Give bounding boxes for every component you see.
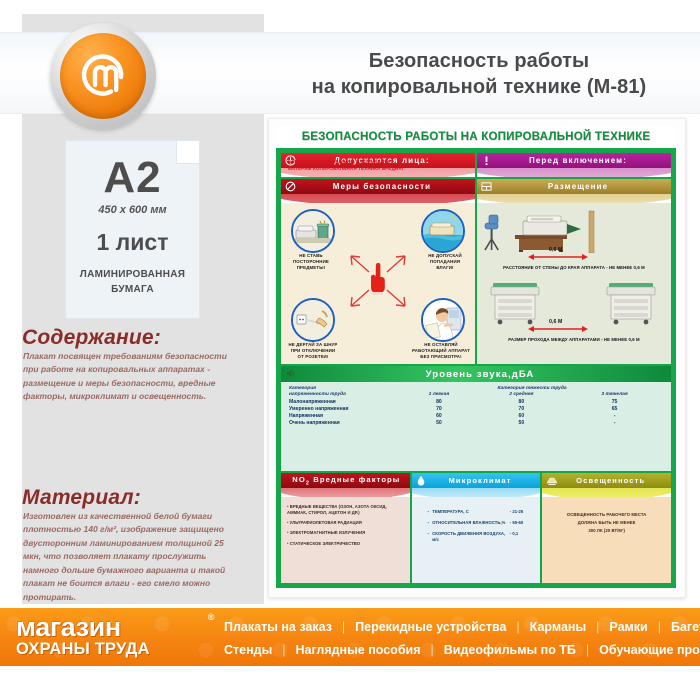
noise-row-0-v2: 75 [566,398,663,405]
harmful-prefix: NO [292,475,306,484]
section-harmful-panel: • ВРЕДНЫЕ ВЕЩЕСТВА (ОЗОН, АЗОТА ОКСИД, А… [281,497,410,583]
placement-dim1-value: 0,6 М [549,247,562,253]
placement-dim2-value: 0,6 М [549,319,562,325]
sheet-material-line2: БУМАГА [72,283,193,298]
footer-links-row-1: Плакаты на заказ | Перекидные устройства… [214,620,692,634]
section-harmful-label: NO2 Вредные факторы [281,475,410,487]
site-footer: магазин® ОХРАНЫ ТРУДА Плакаты на заказ |… [0,608,700,666]
section-microclimate-caption: Микроклимат [412,473,541,488]
poster-row-4: NO2 Вредные факторы • ВРЕДНЫЕ ВЕЩЕСТВА (… [281,473,671,583]
pictogram-no-pull-cord [291,298,335,342]
logo-m-glyph [73,46,133,106]
speaker-icon [284,367,297,380]
section-harmful: NO2 Вредные факторы • ВРЕДНЫЕ ВЕЩЕСТВА (… [281,473,410,583]
footer-link-pockets[interactable]: Карманы [520,620,596,634]
section-harmful-caption: NO2 Вредные факторы [281,473,410,488]
page-title-line1: Безопасность работы [369,48,589,74]
sheet-count: 1 лист [66,229,199,256]
lamp-icon [545,474,558,487]
section-safety-label: Меры безопасности [281,182,475,191]
pictogram-label-no-moisture: НЕ ДОПУСКАЙ ПОПАДАНИЯ ВЛАГИ! [418,253,472,271]
safety-arc [281,194,475,203]
microclimate-arc [412,488,541,497]
section-safety: Меры безопасности [281,179,475,364]
footer-brand-line1: магазин® [16,615,211,641]
noise-row-2-v2: - [566,412,663,419]
copier-left-graphic [485,277,547,329]
section-before-power: Перед включением: - проветри помещение -… [477,153,671,177]
microclimate-item-1: ▪ ОТНОСИТЕЛЬНАЯ ВЛАЖНОСТЬ,% - 55-60 [428,520,536,526]
poster-row-2: Меры безопасности [281,179,671,364]
harmful-title: Вредные факторы [313,475,400,484]
lighting-line2: ДОЛЖНА БЫТЬ НЕ МЕНЕЕ [546,519,667,527]
noise-row-1-v0: 70 [401,405,477,412]
dimension-arrow-1 [527,253,589,261]
page-title-line2: на копировальной технике (М-81) [312,74,647,100]
page-title: Безопасность работы на копировальной тех… [270,40,688,108]
microclimate-item-0: ▪ ТЕМПЕРАТУРА, С - 21-25 [428,509,536,515]
before-power-arc [477,168,671,177]
format-label: A2 [66,153,199,203]
format-sheet-card: A2 450 x 600 мм 1 лист ЛАМИНИРОВАННАЯ БУ… [65,140,200,319]
noise-row-2-label: Напряженная [289,412,401,419]
section-placement-panel: 0,6 М РАССТОЯНИЕ ОТ СТЕНЫ ДО КРАЯ АППАРА… [477,203,671,364]
section-lighting-panel: ОСВЕЩЕННОСТЬ РАБОЧЕГО МЕСТА ДОЛЖНА БЫТЬ … [542,497,671,583]
microclimate-list: ▪ ТЕМПЕРАТУРА, С - 21-25 ▪ ОТНОСИТЕЛЬНАЯ… [428,509,536,543]
pictogram-label-no-pull-cord: НЕ ДЕРГАЙ ЗА ШНУР ПРИ ОТКЛЮЧЕНИИ ОТ РОЗЕ… [282,342,344,360]
placement-dim1-caption: РАССТОЯНИЕ ОТ СТЕНЫ ДО КРАЯ АППАРАТА - Н… [477,265,671,270]
footer-brand[interactable]: магазин® ОХРАНЫ ТРУДА [16,613,211,661]
section-microclimate-label: Микроклимат [412,476,541,485]
table-row: Очень напряженная 50 50 - [289,420,663,427]
noise-row-0-label: Малонапряженная [289,398,401,405]
harmful-sub: 2 [306,480,310,486]
footer-links: Плакаты на заказ | Перекидные устройства… [214,615,692,661]
noise-row-2-v0: 60 [401,412,477,419]
noise-row-1-v2: 65 [566,405,663,412]
material-description: Изготовлен из качественной белой бумаги … [23,510,235,604]
footer-link-custom-posters[interactable]: Плакаты на заказ [214,620,342,634]
section-placement: Размещение [477,179,671,364]
noise-row-1-label: Умеренно напряженная [289,405,401,412]
section-before-power-label: Перед включением: [477,156,671,165]
noise-row-0-v1: 80 [477,398,566,405]
footer-link-frames[interactable]: Рамки [599,620,657,634]
poster-body: Допускаются лица: [276,148,676,588]
section-before-power-caption: Перед включением: [477,153,671,168]
lighting-arc [542,488,671,497]
footer-link-visual-aids[interactable]: Наглядные пособия [286,643,431,657]
section-safety-caption: Меры безопасности [281,179,475,194]
poster-title: БЕЗОПАСНОСТЬ РАБОТЫ НА КОПИРОВАЛЬНОЙ ТЕХ… [276,126,676,148]
harmful-item-0: • ВРЕДНЫЕ ВЕЩЕСТВА (ОЗОН, АЗОТА ОКСИД, А… [287,504,405,516]
table-row: Умеренно напряженная 70 70 65 [289,405,663,412]
harmful-arc [281,488,410,497]
section-lighting-caption: Освещенность [542,473,671,488]
section-lighting-label: Освещенность [542,476,671,485]
exclamation-icon [480,154,493,167]
section-lighting: Освещенность ОСВЕЩЕННОСТЬ РАБОЧЕГО МЕСТА… [542,473,671,583]
lighting-line1: ОСВЕЩЕННОСТЬ РАБОЧЕГО МЕСТА [546,511,667,519]
noise-table: Категория Категория тяжести труда напряж… [289,386,663,427]
pictogram-no-moisture [421,209,465,253]
noise-row-0-v0: 80 [401,398,477,405]
logo-inner-circle [60,33,146,119]
format-dimensions: 450 x 600 мм [66,204,199,216]
harmful-list: • ВРЕДНЫЕ ВЕЩЕСТВА (ОЗОН, АЗОТА ОКСИД, А… [287,504,405,546]
prohibition-icon [284,180,297,193]
section-microclimate-panel: ▪ ТЕМПЕРАТУРА, С - 21-25 ▪ ОТНОСИТЕЛЬНАЯ… [412,497,541,583]
section-noise: Уровень звука,дБА Категория Категория тя… [281,366,671,471]
brand-logo [50,23,156,129]
section-safety-panel: НЕ СТАВЬ ПОСТОРОННИЕ ПРЕДМЕТЫ! [281,203,475,364]
lighting-line3: 300 ЛК (20 ВТ/М²) [546,527,667,535]
content-heading: Содержание: [22,326,161,350]
poster-row-1: Допускаются лица: [281,153,671,177]
footer-brand-line2: ОХРАНЫ ТРУДА [16,641,211,659]
section-placement-label: Размещение [477,182,671,191]
placement-dim2-caption: РАЗМЕР ПРОХОДА МЕЖДУ АППАРАТАМИ - НЕ МЕН… [477,337,671,342]
harmful-item-1: • УЛЬТРАФИОЛЕТОВАЯ РАДИАЦИЯ [287,520,405,526]
noise-row-3-v2: - [566,420,663,427]
noise-row-3-v1: 50 [477,420,566,427]
poster[interactable]: БЕЗОПАСНОСТЬ РАБОТЫ НА КОПИРОВАЛЬНОЙ ТЕХ… [276,126,676,588]
footer-link-stands[interactable]: Стенды [214,643,282,657]
section-placement-caption: Размещение [477,179,671,194]
harmful-item-2: • ЭЛЕКТРОМАГНИТНЫЕ ИЗЛУЧЕНИЯ [287,530,405,536]
material-heading: Материал: [22,486,141,510]
footer-link-flip-systems[interactable]: Перекидные устройства [345,620,516,634]
pointing-hand-icon [368,263,388,297]
table-row: Напряженная 60 60 - [289,412,663,419]
footer-link-training-programs[interactable]: Обучающие программы [589,643,700,657]
page-root: Безопасность работы на копировальной тех… [0,0,700,700]
pictogram-label-no-unattended: НЕ ОСТАВЛЯЙ РАБОТАЮЩИЙ АППАРАТ БЕЗ ПРИСМ… [405,342,475,360]
microclimate-item-2: ▪ СКОРОСТЬ ДВИЖЕНИЯ ВОЗДУХА, м/с - 0,1 [428,531,536,543]
section-admitted: Допускаются лица: [281,153,475,177]
noise-row-1-v1: 70 [477,405,566,412]
harmful-item-3: • СТАТИЧЕСКОЕ ЭЛЕКТРИЧЕСТВО [287,541,405,547]
section-noise-caption: Уровень звука,дБА [281,366,671,382]
copier-on-desk-graphic [481,207,601,253]
section-noise-panel: Категория Категория тяжести труда напряж… [281,382,671,471]
layout-icon [480,180,493,193]
copier-right-graphic [601,277,663,329]
content-description: Плакат посвящен требованиям безопасности… [23,350,235,404]
table-row: Малонапряженная 80 80 75 [289,398,663,405]
lighting-text: ОСВЕЩЕННОСТЬ РАБОЧЕГО МЕСТА ДОЛЖНА БЫТЬ … [546,511,667,535]
placement-arc [477,194,671,203]
admitted-warning: БЕРЕМЕННЫМ ЖЕНЩИНАМ И КОРМЯЩИМ МАТЕРЯМ К… [288,159,468,172]
noise-row-2-v1: 60 [477,412,566,419]
dimension-arrow-2 [527,325,589,333]
section-noise-label: Уровень звука,дБА [281,369,671,380]
admitted-warning-line2: МАТЕРЯМ КОПИРОВАЛЬНАЯ ТЕХНИКА ВРЕДНА! [288,166,468,172]
section-microclimate: Микроклимат ▪ ТЕМПЕРАТУРА, С - 21-25 ▪ [412,473,541,583]
footer-link-videos[interactable]: Видеофильмы по ТБ [434,643,586,657]
pictogram-no-unattended [421,298,465,342]
footer-links-row-2: Стенды | Наглядные пособия | Видеофильмы… [214,643,692,657]
pictogram-label-no-foreign-objects: НЕ СТАВЬ ПОСТОРОННИЕ ПРЕДМЕТЫ! [285,253,337,271]
pictogram-no-foreign-objects [291,209,335,253]
noise-row-3-label: Очень напряженная [289,420,401,427]
noise-row-3-v0: 50 [401,420,477,427]
sheet-material-line1: ЛАМИНИРОВАННАЯ [72,268,193,283]
droplet-icon [415,474,428,487]
footer-link-baguette[interactable]: Багет [661,620,700,634]
sheet-material: ЛАМИНИРОВАННАЯ БУМАГА [72,268,193,297]
